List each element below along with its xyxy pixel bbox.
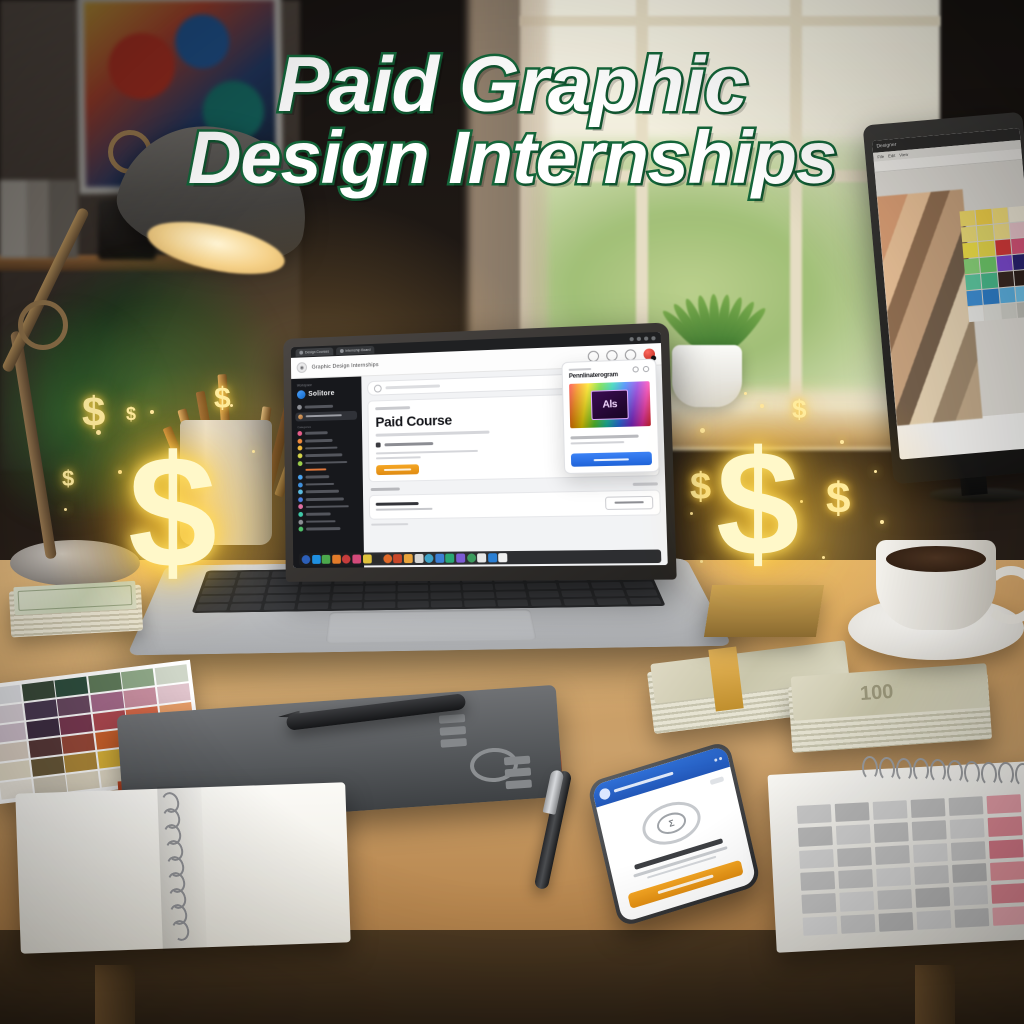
notepad-swatch-cell: [992, 906, 1024, 926]
notepad-coil: [878, 756, 895, 781]
notepad-swatch-cell: [801, 893, 836, 913]
keyboard-key[interactable]: [496, 591, 527, 598]
notepad-swatch-cell: [914, 865, 949, 885]
monitor-swatch-cell[interactable]: [1016, 286, 1024, 302]
rainbow-gradient-preview: Als: [569, 382, 651, 429]
notepad-swatch-cell: [986, 794, 1021, 814]
sidebar-item-my-profile[interactable]: [295, 410, 357, 421]
keyboard-key[interactable]: [628, 597, 661, 604]
dollar-pedestal: [704, 585, 824, 637]
sidebar-item-icon: [298, 504, 303, 509]
notepad-coil: [963, 760, 980, 785]
notepad-swatch-cell: [874, 822, 909, 842]
fan-swatch-cell: [90, 691, 124, 712]
keyboard-key[interactable]: [398, 601, 429, 608]
fan-swatch-cell: [0, 760, 31, 781]
monitor-app-title: Designer: [876, 142, 896, 150]
sidebar-item-label: [305, 439, 333, 442]
openings-section-label: [371, 488, 400, 491]
dock-app-icon[interactable]: [393, 554, 402, 563]
keyboard-key[interactable]: [558, 582, 590, 589]
notepad-swatch-cell: [800, 871, 835, 891]
notepad-swatch-cell: [949, 796, 984, 816]
sidebar-group-label: Categories: [297, 423, 357, 429]
notepad-coil: [980, 761, 997, 786]
notepad-swatch-cell: [878, 912, 913, 932]
monitor-swatch-cell[interactable]: [1009, 206, 1024, 222]
app-sidebar[interactable]: Workspace Solitore Ca: [291, 376, 364, 568]
sidebar-item-label: [305, 461, 347, 465]
sidebar-item-icon: [298, 475, 303, 480]
apply-button-label: [614, 501, 643, 504]
money-symbol-left: $: [128, 432, 217, 592]
keyboard-key[interactable]: [430, 584, 460, 591]
sidebar-item-dashboard-label: [305, 405, 333, 408]
sidebar-item-icon: [298, 527, 303, 532]
laptop-trackpad[interactable]: [326, 609, 537, 643]
sidebar-item-icon: [298, 490, 303, 495]
sidebar-item-icon: [297, 431, 302, 436]
keyboard-key[interactable]: [196, 604, 229, 611]
floating-dollar-5: $: [690, 466, 711, 509]
notepad-swatch-cell: [989, 839, 1024, 859]
sidebar-item-label: [305, 446, 337, 449]
monitor-swatch-cell[interactable]: [966, 290, 983, 306]
dock-app-icon[interactable]: [456, 554, 465, 563]
menu-icon[interactable]: [651, 336, 655, 340]
keyboard-key[interactable]: [300, 586, 331, 593]
dock-app-icon[interactable]: [477, 553, 486, 562]
monitor-swatch-cell[interactable]: [964, 258, 981, 274]
tab-favicon-icon: [340, 349, 344, 353]
sidebar-item-illustration[interactable]: [297, 437, 357, 444]
notepad-swatch-cell: [952, 863, 987, 883]
money-symbol-right: $: [716, 428, 799, 578]
keyboard-key[interactable]: [593, 590, 625, 597]
fan-swatch-cell: [88, 672, 122, 693]
dock-app-icon[interactable]: [373, 554, 382, 563]
sidebar-section-label: Workspace: [297, 382, 357, 388]
keyboard-key[interactable]: [232, 595, 264, 602]
keyboard-key[interactable]: [596, 598, 629, 605]
tablet-express-key[interactable]: [440, 726, 466, 736]
sidebar-item-settings[interactable]: [298, 518, 358, 524]
search-placeholder: [385, 385, 440, 389]
detail-icon: [376, 442, 381, 447]
notepad-coil: [929, 759, 946, 784]
keyboard-key[interactable]: [331, 602, 363, 609]
keyboard-key[interactable]: [263, 603, 295, 610]
notepad-swatch-cell: [837, 847, 872, 867]
monitor-swatch-cell[interactable]: [979, 241, 996, 257]
monitor-swatch-cell[interactable]: [980, 257, 997, 273]
sidebar-see-all-link[interactable]: [305, 468, 326, 471]
fan-swatch-cell: [157, 683, 191, 704]
floating-dollar-1: $: [82, 388, 105, 436]
panel-header: Pennlinaterogram: [569, 366, 650, 380]
sparkle: [880, 520, 884, 524]
notepad-swatch-cell: [836, 824, 871, 844]
lamp-joint-lower: [18, 300, 68, 350]
card-body-line-1: [376, 450, 478, 455]
lamp-base: [10, 540, 140, 586]
tablet-express-key[interactable]: [504, 756, 530, 766]
monitor-swatch-cell[interactable]: [995, 239, 1012, 255]
notepad-coil: [912, 758, 929, 783]
sidebar-item-photo-editing[interactable]: [298, 474, 358, 480]
fan-swatch-cell: [59, 714, 93, 735]
sidebar-item-label: [306, 513, 331, 516]
notepad-coil: [946, 760, 963, 785]
workspace-image: Designer File Edit View $ $ $ $ $ $ $: [0, 0, 1024, 1024]
monitor-swatch-cell[interactable]: [1010, 222, 1024, 238]
notepad-swatch-cell: [916, 910, 951, 930]
keyboard-key[interactable]: [239, 572, 270, 579]
sparkle: [800, 500, 803, 503]
list-item[interactable]: [369, 489, 661, 519]
monitor-swatch-cell[interactable]: [984, 304, 1001, 320]
monitor-swatch-cell[interactable]: [983, 288, 1000, 304]
avatar-icon: [298, 414, 303, 419]
monitor-menu-file[interactable]: File: [877, 154, 884, 160]
panel-actions[interactable]: [632, 366, 649, 373]
list-item-subtitle: [376, 508, 433, 511]
keyboard-key[interactable]: [464, 600, 495, 607]
keyboard-key[interactable]: [234, 587, 266, 594]
fan-swatch-cell: [155, 664, 189, 685]
notepad-coil: [997, 762, 1014, 787]
keyboard-key[interactable]: [229, 603, 262, 610]
notepad-swatch-cell: [838, 869, 873, 889]
panel-description-line-2: [571, 441, 625, 445]
browser-tab-2-label: Internship Board: [345, 347, 370, 352]
laptop-screen[interactable]: Design Courses Internship Board ◉: [291, 332, 668, 568]
notepad-swatch-cell: [797, 804, 832, 824]
maximize-icon[interactable]: [637, 336, 641, 340]
keyboard-key[interactable]: [463, 592, 494, 599]
keyboard-key[interactable]: [494, 583, 525, 590]
monitor-screen[interactable]: Designer File Edit View: [872, 128, 1024, 460]
dock-app-icon[interactable]: [352, 555, 361, 564]
monitor-swatch-cell[interactable]: [976, 209, 993, 225]
dock-app-icon[interactable]: [332, 555, 341, 564]
sidebar-item-brand-identity[interactable]: [297, 430, 357, 437]
floating-dollar-6: $: [826, 474, 850, 524]
sidebar-item-icon: [298, 482, 303, 487]
sidebar-item-label: [306, 520, 336, 523]
keyboard-key[interactable]: [398, 585, 428, 592]
tablet-express-keys[interactable]: [437, 708, 553, 811]
sidebar-item-my-profile-label: [306, 414, 342, 418]
monitor-swatch-cell[interactable]: [1012, 238, 1024, 254]
sidebar-item-ui-ux-design[interactable]: [298, 459, 358, 465]
sparkle: [64, 508, 67, 511]
notepad-swatch-cell: [798, 826, 833, 846]
fan-swatch-cell: [61, 733, 95, 754]
sidebar-item-label: [306, 505, 349, 508]
laptop-lid: Design Courses Internship Board ◉: [283, 322, 676, 581]
keyboard-key[interactable]: [622, 581, 654, 588]
list-item-text: [376, 499, 600, 511]
notepad-swatch-cell: [915, 887, 950, 907]
dock-app-icon[interactable]: [312, 555, 321, 564]
sidebar-item-label: [306, 527, 340, 530]
fan-swatch-cell: [0, 741, 29, 762]
card-body-line-2: [376, 456, 421, 459]
sidebar-item-label: [305, 475, 329, 478]
panel-title: Pennlinaterogram: [569, 372, 618, 380]
fan-swatch-cell: [0, 722, 26, 743]
sidebar-item-label: [305, 453, 342, 456]
browser-tab-1-label: Design Courses: [305, 349, 329, 354]
notepad-swatch-grid: [797, 794, 1024, 936]
keyboard-key[interactable]: [333, 586, 364, 593]
keyboard-key[interactable]: [528, 591, 560, 598]
monitor-swatch-cell[interactable]: [981, 273, 998, 289]
sparkle: [96, 430, 101, 435]
window-mullion: [790, 0, 802, 430]
phone-menu-icon[interactable]: [719, 756, 723, 760]
keyboard-key[interactable]: [625, 589, 658, 596]
sparkle: [150, 410, 154, 414]
keyboard-key[interactable]: [267, 586, 298, 593]
dock-app-icon[interactable]: [488, 553, 497, 562]
monitor-swatch-cell[interactable]: [996, 255, 1013, 271]
fan-swatch-cell: [66, 770, 100, 791]
more-results-label: [371, 523, 408, 526]
tablet-express-key[interactable]: [506, 780, 532, 790]
notepad-swatch-cell: [954, 908, 989, 928]
settings-icon[interactable]: [632, 366, 638, 372]
monitor-swatch-cell[interactable]: [994, 223, 1011, 239]
sidebar-item-icon: [298, 453, 303, 458]
notepad-swatch-cell: [988, 817, 1023, 837]
fan-swatch-cell: [0, 703, 24, 724]
sidebar-item-icon: [298, 446, 303, 451]
sidebar-item-label: [305, 432, 328, 435]
keyboard-key[interactable]: [365, 585, 395, 592]
apply-button[interactable]: [605, 495, 653, 509]
monitor-swatch-cell[interactable]: [959, 210, 976, 226]
sidebar-item-packaging[interactable]: [298, 496, 358, 502]
dashboard-icon: [297, 405, 302, 410]
dock-app-icon[interactable]: [445, 554, 454, 563]
keyboard-key[interactable]: [364, 601, 395, 608]
dock-app-icon[interactable]: [363, 554, 372, 563]
keyboard-key[interactable]: [563, 598, 596, 605]
dock-app-icon[interactable]: [498, 553, 507, 562]
tablet-express-key[interactable]: [440, 738, 466, 748]
get-started-button[interactable]: [571, 452, 652, 467]
sidebar-brand[interactable]: Solitore: [297, 388, 357, 399]
phone-header-actions[interactable]: [714, 756, 722, 761]
fan-swatch-cell: [121, 668, 155, 689]
bill-border: [18, 585, 133, 611]
notepad-swatch-cell: [835, 802, 870, 822]
fan-swatch-cell: [28, 737, 62, 758]
address-bar-value[interactable]: Graphic Design Internships: [312, 362, 379, 370]
openings-view-all-link[interactable]: [633, 482, 658, 485]
sidebar-item-help-center[interactable]: [298, 526, 358, 532]
monitor-swatch-cell[interactable]: [1001, 303, 1018, 319]
sidebar-item-list-secondary[interactable]: [298, 474, 359, 532]
window-controls[interactable]: [629, 336, 655, 341]
sidebar-item-branding[interactable]: [298, 488, 358, 494]
sidebar-item-label: [306, 497, 344, 500]
window-mullion: [520, 16, 940, 26]
keyboard-key[interactable]: [431, 592, 462, 599]
fan-swatch-cell: [64, 752, 98, 773]
keyboard-key[interactable]: [298, 594, 329, 601]
desk-leg-right: [915, 965, 955, 1024]
keyboard-key[interactable]: [530, 599, 562, 606]
monitor-menu-view[interactable]: View: [899, 152, 908, 158]
monitor-swatch-cell[interactable]: [998, 271, 1015, 287]
keyboard-key[interactable]: [497, 599, 529, 606]
notepad-swatch-cell: [912, 821, 947, 841]
dock-app-icon[interactable]: [467, 553, 476, 562]
coffee-liquid: [886, 546, 986, 572]
notepad-swatch-cell: [873, 800, 908, 820]
fan-swatch-cell: [21, 681, 55, 702]
sidebar-item-web-design[interactable]: [298, 503, 358, 509]
notepad-coil: [1014, 763, 1024, 788]
sidebar-item-3d-modeling[interactable]: [298, 511, 358, 517]
dock-app-icon[interactable]: [322, 555, 331, 564]
browser-tab-2[interactable]: Internship Board: [336, 345, 375, 354]
monitor-swatch-cell[interactable]: [968, 306, 985, 322]
software-panel[interactable]: Pennlinaterogram Als: [561, 358, 659, 474]
card-description-line-1: [376, 431, 490, 437]
fan-swatch-cell: [57, 695, 91, 716]
keyboard-key[interactable]: [398, 593, 428, 600]
notepad-coil: [861, 756, 878, 781]
notepad-swatch-cell: [950, 819, 985, 839]
tablet-express-key[interactable]: [505, 768, 531, 778]
notepad-swatch-cell: [799, 849, 834, 869]
keyboard-key[interactable]: [265, 594, 297, 601]
monitor-swatch-cell[interactable]: [1014, 270, 1024, 286]
monitor-swatch-cell[interactable]: [1013, 254, 1024, 270]
browser-tab-1[interactable]: Design Courses: [296, 347, 333, 356]
tablet-express-key[interactable]: [439, 714, 465, 724]
monitor-canvas[interactable]: [875, 160, 1024, 424]
keyboard-key[interactable]: [431, 600, 462, 607]
card-eyebrow: [375, 406, 410, 410]
dock-app-icon[interactable]: [302, 555, 311, 564]
notepad-swatch-cell: [877, 889, 912, 909]
fan-swatch-cell: [24, 699, 58, 720]
dock-app-icon[interactable]: [383, 554, 392, 563]
phone-search-icon[interactable]: [714, 758, 718, 762]
dock-app-icon[interactable]: [404, 554, 413, 563]
floating-dollar-3: $: [62, 466, 74, 492]
sidebar-item-icon: [298, 461, 303, 466]
sidebar-item-print-production[interactable]: [298, 481, 358, 487]
keyboard-key[interactable]: [590, 582, 622, 589]
sidebar-item-dashboard[interactable]: [297, 403, 357, 410]
adobe-app-logo: Als: [591, 390, 629, 421]
sparkle: [690, 512, 693, 515]
tab-favicon-icon: [299, 350, 303, 354]
phone-badge: [710, 776, 725, 785]
notepad-swatch-cell: [875, 845, 910, 865]
notepad-swatch-cell: [876, 867, 911, 887]
notepad-swatch-cell: [841, 914, 876, 934]
card-detail-label: [384, 442, 433, 446]
search-icon: [374, 384, 382, 392]
keyboard-key[interactable]: [332, 593, 363, 600]
keyboard-key[interactable]: [297, 602, 329, 609]
notepad-coils: [862, 756, 1024, 786]
close-icon[interactable]: [644, 336, 648, 340]
sidebar-item-icon: [298, 519, 303, 524]
site-favicon-icon: ◉: [297, 362, 307, 373]
sidebar-item-icon: [298, 497, 303, 502]
phone-hero-logo-icon: Σ: [638, 795, 704, 852]
sparkle: [118, 470, 122, 474]
dock-app-icon[interactable]: [435, 554, 444, 563]
sparkle: [840, 440, 844, 444]
dock-app-icon[interactable]: [425, 554, 434, 563]
sparkle: [822, 556, 825, 559]
keyboard-key[interactable]: [365, 593, 396, 600]
sidebar-item-motion-design[interactable]: [298, 444, 358, 450]
sparkle: [700, 560, 703, 563]
sidebar-item-label: [306, 490, 339, 493]
add-icon[interactable]: [643, 366, 649, 372]
phone-browse-button-label: [658, 875, 714, 895]
panel-eyebrow: [569, 368, 592, 371]
monitor-swatch-cell[interactable]: [977, 225, 994, 241]
laptop: Design Courses Internship Board ◉: [168, 330, 688, 710]
notepad-swatch-cell: [911, 798, 946, 818]
browser-page: Workspace Solitore Ca: [291, 365, 668, 568]
monitor-swatch-cell[interactable]: [961, 226, 978, 242]
notepad-swatch-cell: [951, 841, 986, 861]
monitor-color-swatches[interactable]: [959, 206, 1024, 322]
dock-app-icon[interactable]: [414, 554, 423, 563]
monitor-swatch-cell[interactable]: [962, 242, 979, 258]
monitor-swatch-cell[interactable]: [1017, 302, 1024, 318]
keyboard-key[interactable]: [526, 583, 557, 590]
monitor-swatch-cell[interactable]: [999, 287, 1016, 303]
monitor-menu-edit[interactable]: Edit: [888, 153, 896, 159]
bill-denomination: 100: [859, 681, 894, 706]
fan-swatch-cell: [55, 677, 89, 698]
keyboard-key[interactable]: [237, 579, 268, 586]
keyboard-key[interactable]: [462, 584, 493, 591]
notepad-coil: [895, 757, 912, 782]
monitor-swatch-cell[interactable]: [992, 207, 1009, 223]
phone-hero-logo-inner: Σ: [655, 809, 688, 837]
adobe-app-logo-text: Als: [602, 399, 617, 411]
panel-description-line-1: [570, 435, 638, 439]
sidebar-item-typography[interactable]: [298, 452, 358, 458]
enroll-button[interactable]: [376, 464, 419, 475]
fan-swatch-cell: [124, 687, 158, 708]
sidebar-item-icon: [298, 512, 303, 517]
notepad-swatch-cell: [913, 843, 948, 863]
phone-app-logo-icon: [598, 786, 611, 800]
minimize-icon[interactable]: [629, 337, 633, 341]
keyboard-key[interactable]: [561, 590, 593, 597]
sparkle: [744, 392, 747, 395]
dock-app-icon[interactable]: [342, 555, 351, 564]
sidebar-item-list[interactable]: [297, 430, 357, 466]
fan-swatch-cell: [30, 756, 64, 777]
monitor-swatch-cell[interactable]: [965, 274, 982, 290]
